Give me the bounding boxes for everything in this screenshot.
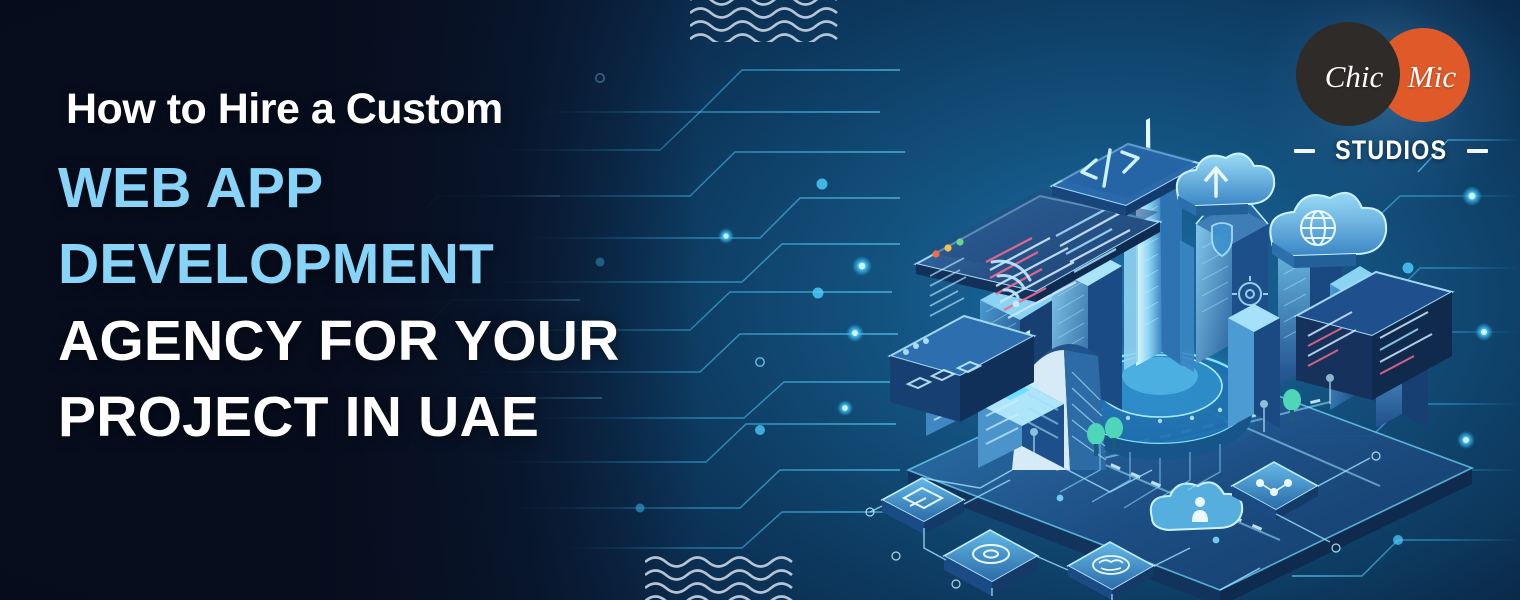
logo-tagline-row: STUDIOS xyxy=(1288,135,1488,166)
logo-circles: Mic Chic xyxy=(1288,22,1488,126)
tile-gear-icon xyxy=(944,530,1038,596)
cloud-globe-icon xyxy=(1270,193,1386,268)
logo-word-chic: Chic xyxy=(1325,61,1384,92)
logo-tagline: STUDIOS xyxy=(1335,135,1447,166)
headline-line-3: AGENCY FOR YOUR xyxy=(58,303,798,379)
logo-dash-right xyxy=(1467,149,1488,153)
logo-dash-left xyxy=(1294,149,1315,153)
headline-line-4: PROJECT IN UAE xyxy=(58,379,798,455)
promo-banner: How to Hire a Custom WEB APP DEVELOPMENT… xyxy=(0,0,1520,600)
headline-line-2: DEVELOPMENT xyxy=(58,226,798,302)
headline-kicker: How to Hire a Custom xyxy=(66,88,798,131)
headline-block: How to Hire a Custom WEB APP DEVELOPMENT… xyxy=(58,88,798,456)
logo-word-mic: Mic xyxy=(1408,61,1456,92)
headline-line-1: WEB APP xyxy=(58,150,798,226)
logo-circle-dark: Chic xyxy=(1296,22,1400,126)
brand-logo[interactable]: Mic Chic STUDIOS xyxy=(1288,22,1488,172)
